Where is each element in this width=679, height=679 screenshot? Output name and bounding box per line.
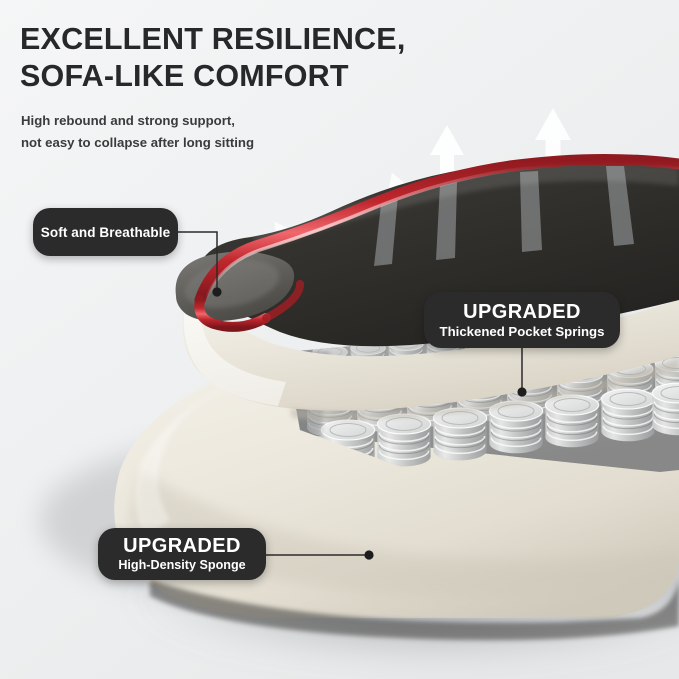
- callout-sponge-label: High-Density Sponge: [118, 558, 245, 573]
- page-title: EXCELLENT RESILIENCE, SOFA-LIKE COMFORT: [20, 21, 620, 95]
- leader-dot-soft: [212, 287, 221, 296]
- callout-sponge-heading: UPGRADED: [123, 535, 241, 557]
- page-subtitle: High rebound and strong support, not eas…: [21, 110, 441, 154]
- subtitle-line-1: High rebound and strong support,: [21, 110, 441, 132]
- headline-line-2: SOFA-LIKE COMFORT: [20, 58, 620, 95]
- headline-line-1: EXCELLENT RESILIENCE,: [20, 21, 620, 58]
- callout-springs-label: Thickened Pocket Springs: [440, 324, 605, 340]
- leader-dot-springs: [517, 387, 526, 396]
- infographic-canvas: EXCELLENT RESILIENCE, SOFA-LIKE COMFORT …: [0, 0, 679, 679]
- callout-thickened-pocket-springs: UPGRADED Thickened Pocket Springs: [424, 292, 620, 348]
- callout-springs-heading: UPGRADED: [463, 301, 581, 323]
- callout-soft-and-breathable: Soft and Breathable: [33, 208, 178, 256]
- callout-soft-label: Soft and Breathable: [41, 225, 170, 240]
- leader-dot-sponge: [364, 550, 373, 559]
- callout-high-density-sponge: UPGRADED High-Density Sponge: [98, 528, 266, 580]
- subtitle-line-2: not easy to collapse after long sitting: [21, 132, 441, 154]
